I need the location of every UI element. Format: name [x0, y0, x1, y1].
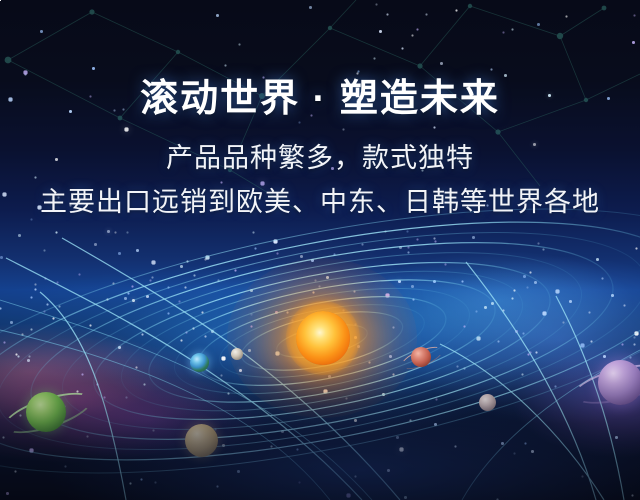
space-banner: 滚动世界 · 塑造未来 产品品种繁多，款式独特 主要出口远销到欧美、中东、日韩等… [0, 0, 640, 500]
banner-subtitle-line-2: 主要出口远销到欧美、中东、日韩等世界各地 [0, 174, 640, 218]
banner-subtitle-line-1: 产品品种繁多，款式独特 [0, 121, 640, 174]
banner-headline: 滚动世界 · 塑造未来 [0, 0, 640, 121]
banner-text-block: 滚动世界 · 塑造未来 产品品种繁多，款式独特 主要出口远销到欧美、中东、日韩等… [0, 0, 640, 218]
